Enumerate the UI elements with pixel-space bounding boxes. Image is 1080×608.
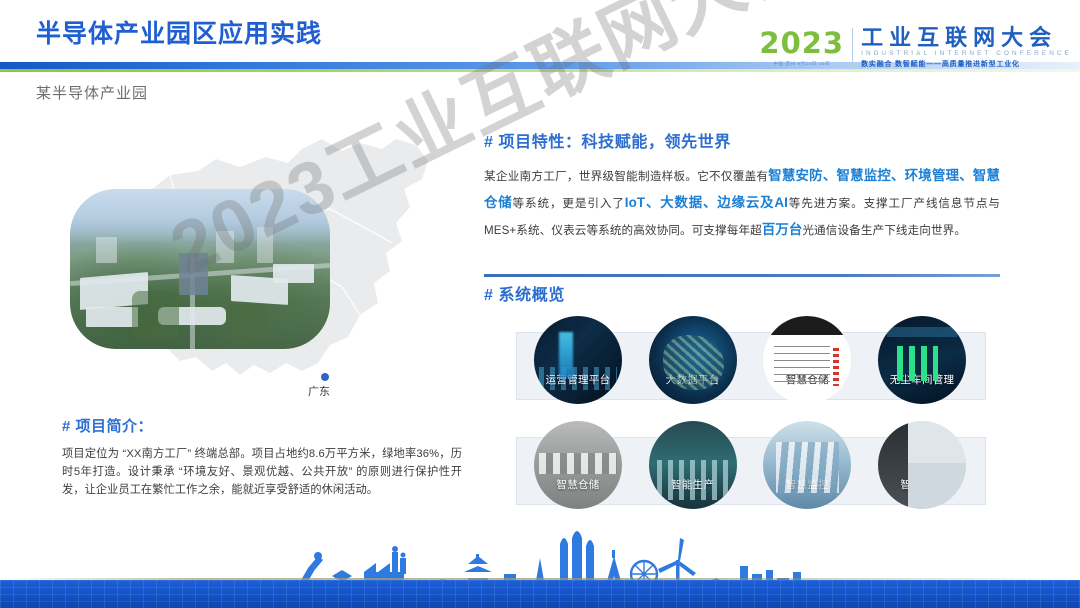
feature-highlight-text: 百万台 (762, 222, 802, 237)
photo-building (257, 227, 273, 262)
project-intro-block: # 项目简介： 项目定位为 “XX南方工厂” 终端总部。项目占地约8.6万平方米… (62, 415, 462, 499)
overview-card-label: 智慧监控 (763, 477, 851, 492)
photo-green-area (226, 304, 268, 342)
overview-card-label: 运营管理平台 (534, 372, 622, 387)
photo-building (273, 264, 315, 283)
photo-green-area (132, 291, 179, 339)
feature-heading: # 项目特性：科技赋能，领先世界 (484, 128, 1000, 152)
logo-english-name: INDUSTRIAL INTERNET CONFERENCE (861, 50, 1072, 57)
map-location-dot-icon (321, 373, 329, 381)
overview-card[interactable]: 无尘车间管理 (878, 316, 966, 404)
photo-tower (179, 253, 208, 295)
map-panel: 广东 (30, 105, 460, 415)
feature-plain-text: 等系统，更是引入了 (513, 197, 625, 210)
photo-sky (70, 189, 330, 243)
overview-card[interactable]: 智慧仓储 (763, 316, 851, 404)
bottom-banner (0, 530, 1080, 608)
logo-slogan: 数实融合 数智赋能——高质量推进新型工业化 (861, 59, 1072, 69)
overview-card-label: 智慧仓储 (534, 477, 622, 492)
logo-year-subtext: 中国·苏州 9月14日-16日 (773, 61, 830, 67)
photo-building (86, 307, 138, 326)
overview-divider (484, 274, 1000, 277)
overview-card[interactable]: 智慧监控 (763, 421, 851, 509)
page-subtitle: 某半导体产业园 (36, 82, 148, 103)
banner-ground-grid (0, 580, 1080, 608)
overview-card-label: 智能生产 (649, 477, 737, 492)
intro-body-text: 项目定位为 “XX南方工厂” 终端总部。项目占地约8.6万平方米，绿地率36%，… (62, 445, 462, 499)
logo-name-block: 工业互联网大会 INDUSTRIAL INTERNET CONFERENCE 数… (861, 26, 1072, 69)
feature-highlight-text: IoT、大数据、边缘云及AI (625, 195, 788, 210)
overview-card-label: 智能硬件 (878, 477, 966, 492)
overview-card-label: 大数据平台 (649, 372, 737, 387)
aerial-photo (70, 189, 330, 349)
overview-card[interactable]: 智能生产 (649, 421, 737, 509)
overview-card[interactable]: 智慧仓储 (534, 421, 622, 509)
overview-card[interactable]: 大数据平台 (649, 316, 737, 404)
map-region-label: 广东 (308, 383, 330, 399)
overview-card-label: 无尘车间管理 (878, 372, 966, 387)
feature-plain-text: 某企业南方工厂，世界级智能制造样板。它不仅覆盖有 (484, 170, 768, 183)
overview-card[interactable]: 运营管理平台 (534, 316, 622, 404)
photo-building (216, 231, 234, 263)
overview-card-row: 智慧仓储智能生产智慧监控智能硬件 (516, 415, 984, 515)
header-divider-green (0, 69, 1080, 72)
conference-logo: 2023 中国·苏州 9月14日-16日 工业互联网大会 INDUSTRIAL … (759, 26, 1072, 69)
overview-card-row: 运营管理平台大数据平台智慧仓储无尘车间管理 (516, 310, 984, 410)
photo-building (96, 237, 117, 263)
intro-heading: # 项目简介： (62, 415, 462, 436)
project-feature-block: # 项目特性：科技赋能，领先世界 某企业南方工厂，世界级智能制造样板。它不仅覆盖… (484, 128, 1000, 243)
logo-chinese-name: 工业互联网大会 (861, 26, 1072, 49)
logo-year-block: 2023 中国·苏州 9月14日-16日 (759, 29, 844, 67)
overview-heading: # 系统概览 (484, 281, 565, 305)
feature-body-text: 某企业南方工厂，世界级智能制造样板。它不仅覆盖有智慧安防、智慧监控、环境管理、智… (484, 163, 1000, 243)
logo-divider (852, 28, 853, 68)
page-title: 半导体产业园区应用实践 (36, 14, 322, 50)
feature-plain-text: 光通信设备生产下线走向世界。 (802, 224, 966, 237)
overview-card-label: 智慧仓储 (763, 372, 851, 387)
overview-card[interactable]: 智能硬件 (878, 421, 966, 509)
logo-year: 2023 (759, 29, 844, 58)
